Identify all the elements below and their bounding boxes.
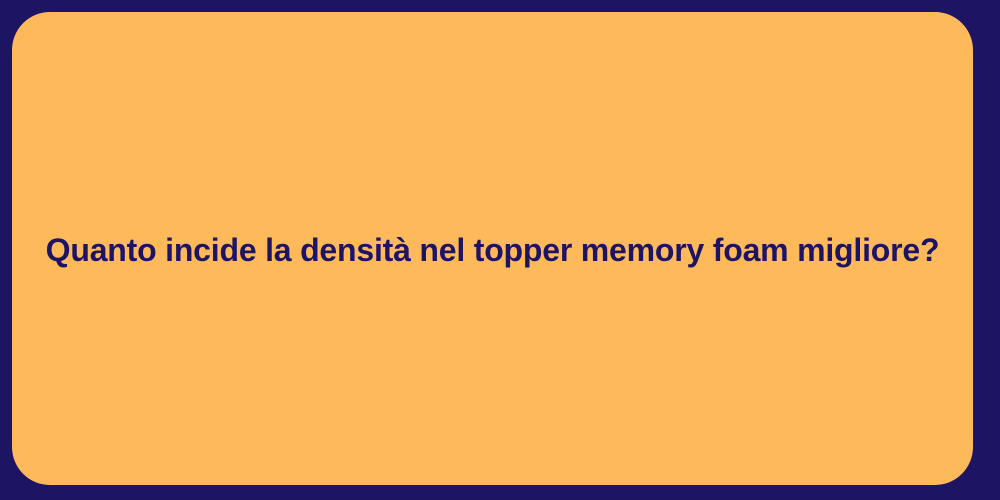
banner-frame: Quanto incide la densità nel topper memo… <box>0 0 1000 500</box>
banner-headline: Quanto incide la densità nel topper memo… <box>12 230 973 270</box>
banner-card: Quanto incide la densità nel topper memo… <box>12 12 973 485</box>
